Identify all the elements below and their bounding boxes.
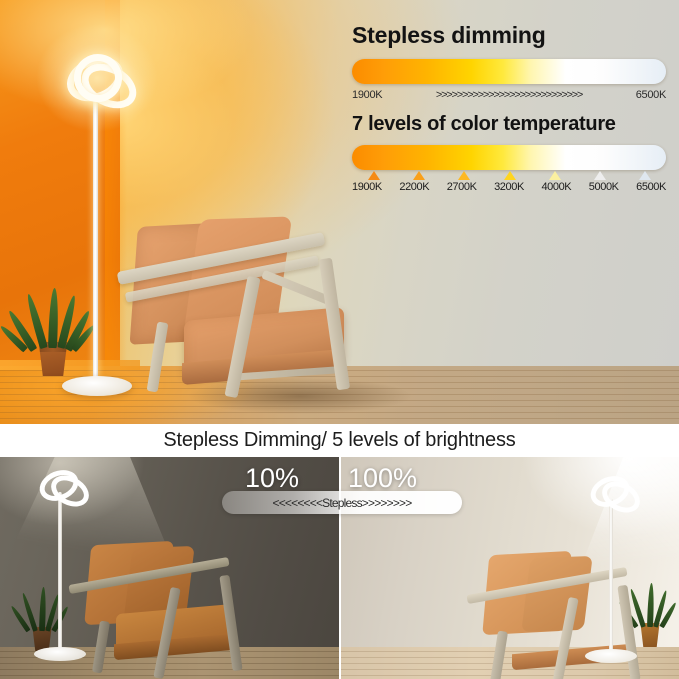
dim-armchair xyxy=(66,543,256,678)
dimming-gradient-bar xyxy=(352,59,666,84)
temperature-label-2200k: 2200K xyxy=(399,181,429,193)
lamp-base xyxy=(62,376,132,396)
stepless-slider[interactable]: <<<<<<<<Stepless>>>>>>>> xyxy=(222,491,462,514)
section-banner: Stepless Dimming/ 5 levels of brightness xyxy=(0,424,679,457)
temperature-marker-5000k xyxy=(594,171,606,180)
temperature-marker-3200k xyxy=(504,171,516,180)
top-room-scene: Stepless dimming 1900K >>>>>>>>>>>>>>>>>… xyxy=(0,0,679,424)
feature-info-overlay: Stepless dimming 1900K >>>>>>>>>>>>>>>>>… xyxy=(352,22,666,193)
temperature-marker-2700k xyxy=(458,171,470,180)
temperature-marker-6500k xyxy=(639,171,651,180)
temperature-label-4000k: 4000K xyxy=(541,181,571,193)
dim-lamp-head xyxy=(36,467,88,505)
bright-lamp-pole xyxy=(609,499,613,654)
temperature-labels: 1900K2200K2700K3200K4000K5000K6500K xyxy=(352,181,666,193)
lamp-head xyxy=(60,52,132,107)
bright-lamp-head xyxy=(587,473,639,511)
bright-lamp-base xyxy=(585,649,637,663)
banner-title: Stepless Dimming/ 5 levels of brightness xyxy=(163,429,515,452)
potted-plant xyxy=(14,282,92,378)
dim-lamp-pole xyxy=(58,492,62,652)
dim-lamp-base xyxy=(34,647,86,661)
bright-chair-rear-leg xyxy=(490,631,508,679)
plant-leaf xyxy=(39,587,47,631)
dim-chair-rear-leg xyxy=(92,621,110,674)
temperature-tick-markers xyxy=(352,171,666,181)
dimming-axis-end-label: 6500K xyxy=(636,89,666,101)
dimming-axis: 1900K >>>>>>>>>>>>>>>>>>>>>>>>>>>> 6500K xyxy=(352,89,666,101)
stepless-dimming-heading: Stepless dimming xyxy=(352,22,666,50)
temperature-label-5000k: 5000K xyxy=(589,181,619,193)
color-temperature-heading: 7 levels of color temperature xyxy=(352,113,666,136)
dim-brightness-label: 10% xyxy=(245,463,299,494)
dimming-axis-start-label: 1900K xyxy=(352,89,382,101)
temperature-label-1900k: 1900K xyxy=(352,181,382,193)
temperature-marker-1900k xyxy=(368,171,380,180)
dimming-axis-arrows: >>>>>>>>>>>>>>>>>>>>>>>>>>>> xyxy=(382,89,635,101)
temperature-marker-4000k xyxy=(549,171,561,180)
lamp-pole xyxy=(93,96,98,384)
temperature-label-2700k: 2700K xyxy=(447,181,477,193)
product-feature-image: Stepless dimming 1900K >>>>>>>>>>>>>>>>>… xyxy=(0,0,679,679)
plant-leaf xyxy=(48,288,59,348)
color-temperature-gradient-bar xyxy=(352,145,666,170)
temperature-label-3200k: 3200K xyxy=(494,181,524,193)
temperature-label-6500k: 6500K xyxy=(636,181,666,193)
stepless-slider-label: <<<<<<<<Stepless>>>>>>>> xyxy=(273,496,412,510)
armchair xyxy=(112,218,357,398)
temperature-marker-2200k xyxy=(413,171,425,180)
bright-brightness-label: 100% xyxy=(348,463,417,494)
